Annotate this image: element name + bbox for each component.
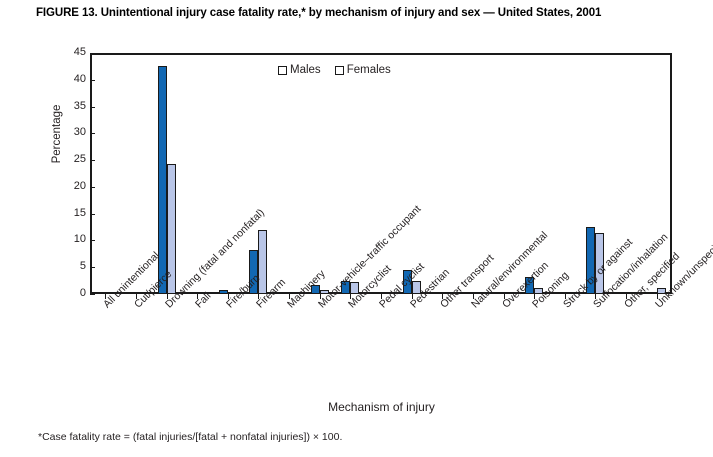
bar-males (127, 292, 136, 295)
legend-swatch-females (335, 66, 344, 75)
y-axis-tick-mark (90, 187, 95, 188)
y-axis-tick-mark (90, 214, 95, 215)
y-axis-tick-mark (90, 133, 95, 134)
bar-males (219, 290, 228, 294)
legend-item-males: Males (278, 64, 321, 76)
y-axis-tick-label: 40 (52, 73, 86, 85)
y-axis-tick-label: 45 (52, 46, 86, 58)
legend-label-females: Females (347, 64, 391, 76)
y-axis-tick-mark (90, 160, 95, 161)
bar-males (96, 292, 105, 295)
y-axis-tick-mark (90, 267, 95, 268)
y-axis-tick-label: 25 (52, 153, 86, 165)
bar-males (556, 292, 565, 295)
y-axis-tick-label: 35 (52, 100, 86, 112)
y-axis-tick-label: 10 (52, 233, 86, 245)
bar-males (464, 292, 473, 295)
y-axis-tick-label: 30 (52, 126, 86, 138)
figure-title: FIGURE 13. Unintentional injury case fat… (36, 6, 676, 21)
footnote: *Case fatality rate = (fatal injuries/[f… (38, 431, 342, 443)
y-axis-tick-label: 5 (52, 260, 86, 272)
y-axis-tick-mark (90, 53, 95, 54)
legend-swatch-males (278, 66, 287, 75)
bar-males (617, 292, 626, 295)
legend-item-females: Females (335, 64, 391, 76)
bar-males (372, 292, 381, 295)
y-axis-tick-label: 15 (52, 207, 86, 219)
y-axis-tick-mark (90, 80, 95, 81)
y-axis-tick-mark (90, 294, 95, 295)
x-axis-title-text: Mechanism of injury (278, 400, 435, 414)
legend-label-males: Males (290, 64, 321, 76)
chart-legend: Males Females (278, 64, 391, 76)
y-axis-tick-mark (90, 240, 95, 241)
bar-males (280, 292, 289, 295)
y-axis-tick-mark (90, 107, 95, 108)
plot-area (90, 53, 672, 294)
y-axis-tick-label: 20 (52, 180, 86, 192)
x-axis-title: Mechanism of injury (0, 400, 713, 414)
y-axis-tick-label: 0 (52, 287, 86, 299)
bar-females (258, 230, 267, 294)
